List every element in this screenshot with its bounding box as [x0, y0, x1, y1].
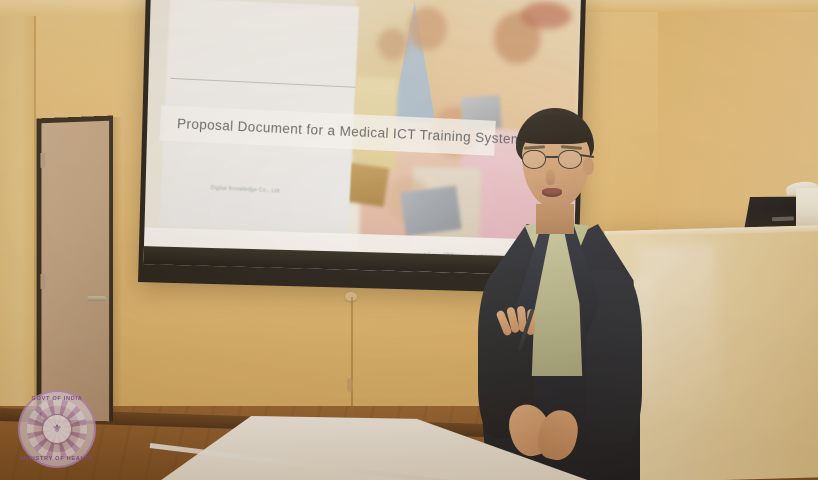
seal-inner-disc: ⚜ [42, 414, 72, 444]
door-hinge-lower [40, 274, 45, 289]
door-frame [37, 116, 114, 422]
collage-tablet-1 [400, 186, 461, 237]
seal-emblem-icon: ⚜ [52, 424, 62, 435]
screen-pull-cord[interactable] [351, 297, 353, 415]
presenter-mouth [542, 188, 562, 197]
eyeglass-temple [580, 154, 594, 158]
presenter-neck [536, 204, 574, 234]
eyeglasses-icon [522, 150, 592, 170]
watermark-seal: GOVT OF INDIA MINISTRY OF HEALTH ⚜ [18, 390, 96, 468]
door-handle-icon[interactable] [87, 296, 106, 301]
wall-left-panel [0, 0, 36, 420]
eyeglass-lens-left [522, 150, 546, 169]
door-hinge-upper [40, 153, 45, 168]
seal-arc-bottom-text: MINISTRY OF HEALTH [18, 456, 96, 462]
laptop-brand-badge [772, 216, 794, 221]
eyeglass-bridge [546, 156, 558, 158]
photo-scene: Proposal Document for a Medical ICT Trai… [0, 0, 818, 480]
seal-arc-top-text: GOVT OF INDIA [18, 396, 96, 402]
presenter-nose [546, 170, 555, 185]
screen-cord-grip[interactable] [347, 378, 353, 392]
eyeglass-lens-right [558, 150, 582, 169]
presenter [470, 108, 648, 480]
door-leaf[interactable] [41, 121, 109, 422]
presenter-hands [484, 306, 594, 386]
slide-title: Proposal Document for a Medical ICT Trai… [160, 115, 523, 147]
